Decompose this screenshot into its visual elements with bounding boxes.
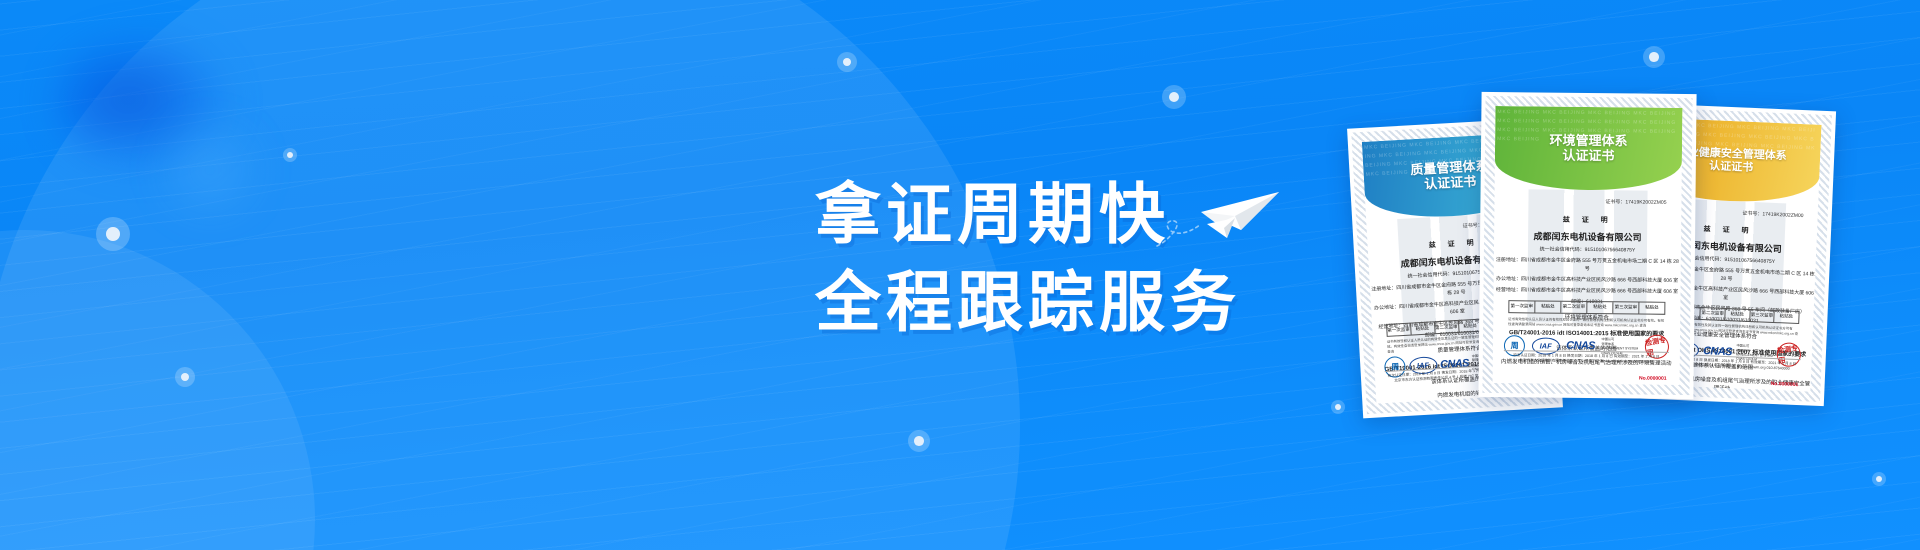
headline-line-2: 全程跟踪服务 bbox=[815, 258, 1241, 346]
audit-cell: 第二次监审 bbox=[1561, 302, 1587, 313]
decorative-dot bbox=[283, 148, 297, 162]
office-address: 办公地址：四川省成都市金牛区高科技产业区民风沙路 666 号西部科技大厦 606… bbox=[1494, 275, 1681, 285]
certificates-group: MKC BEIJING MKC BEIJING MKC BEIJING MKC … bbox=[1355, 85, 1920, 485]
decorative-dot bbox=[1643, 46, 1665, 68]
audit-cell: 粘贴处 bbox=[1411, 323, 1435, 335]
decorative-dot bbox=[175, 367, 195, 387]
dot-core bbox=[914, 436, 924, 446]
audit-cell: 粘贴处 bbox=[1535, 301, 1561, 312]
decorative-dot bbox=[1162, 85, 1186, 109]
certificate-title: 环境管理体系认证证书 bbox=[1549, 133, 1627, 164]
certificate-title-line-2: 认证证书 bbox=[1549, 148, 1627, 164]
certificate-title: 质量管理体系认证证书 bbox=[1410, 159, 1490, 193]
audit-cell: 第一次监审 bbox=[1387, 324, 1411, 336]
certificate-serial: No.0000001 bbox=[1771, 381, 1799, 388]
audit-cell: 第一次监审 bbox=[1509, 301, 1535, 312]
background-glow-light bbox=[145, 115, 275, 225]
audit-cell: 粘贴处 bbox=[1725, 309, 1750, 321]
audit-cell: 第三次监审 bbox=[1613, 302, 1639, 313]
decorative-dot bbox=[1331, 400, 1345, 414]
decorative-dot bbox=[96, 217, 130, 251]
promo-banner: 拿证周期快 全程跟踪服务 MKC BEIJING MKC BEIJING MKC… bbox=[0, 0, 1920, 550]
certificate-title-line-1: 环境管理体系 bbox=[1550, 133, 1628, 149]
audit-cell: 第三次监审 bbox=[1750, 310, 1775, 322]
decorative-dot bbox=[908, 430, 930, 452]
audit-cell: 粘贴处 bbox=[1639, 302, 1664, 313]
audit-cell: 第二次监审 bbox=[1701, 308, 1726, 320]
certificate-fineprint: 证书有效性和认证人员认证的有效性及其认证的一致性管理机构注册和认可机构认证证书方… bbox=[1508, 317, 1665, 329]
certificate-serial: No.0000001 bbox=[1639, 376, 1667, 382]
certificate-header-band: MKC BEIJING MKC BEIJING MKC BEIJING MKC … bbox=[1495, 106, 1683, 191]
audit-cell: 第二次监审 bbox=[1435, 321, 1459, 333]
decorative-dot bbox=[837, 52, 857, 72]
audit-cell: 粘贴处 bbox=[1774, 311, 1798, 323]
certificate-2[interactable]: MKC BEIJING MKC BEIJING MKC BEIJING MKC … bbox=[1478, 92, 1696, 399]
company-name: 成都闰东电机设备有限公司 bbox=[1494, 229, 1681, 244]
operating-address: 经营地址：四川省成都市金牛区高科技产业区民风沙路 666 号西部科技大厦 606… bbox=[1493, 286, 1680, 296]
registered-address: 注册地址：四川省成都市金牛区金府路 555 号万贯五金机电市场二期 C 区 14… bbox=[1494, 256, 1681, 274]
paper-plane-icon bbox=[1155, 180, 1285, 250]
certificate-inner: MKC BEIJING MKC BEIJING MKC BEIJING MKC … bbox=[1493, 106, 1683, 385]
certificate-footer: 初次认证日期：2018 年 1 月 8 日 换发日期：2018 年 1 月 8 … bbox=[1504, 350, 1669, 366]
certify-label: 兹 证 明 bbox=[1494, 214, 1681, 226]
dot-core bbox=[1649, 52, 1659, 62]
certificate-number: 证书号：17419K2002ZM05 bbox=[1605, 199, 1666, 207]
credit-code: 统一社会信用代码：91510106756640875Y bbox=[1494, 245, 1681, 255]
audit-cell: 粘贴处 bbox=[1587, 302, 1613, 313]
audit-grid: 第一次监审粘贴处第二次监审粘贴处第三次监审粘贴处 bbox=[1508, 300, 1665, 315]
